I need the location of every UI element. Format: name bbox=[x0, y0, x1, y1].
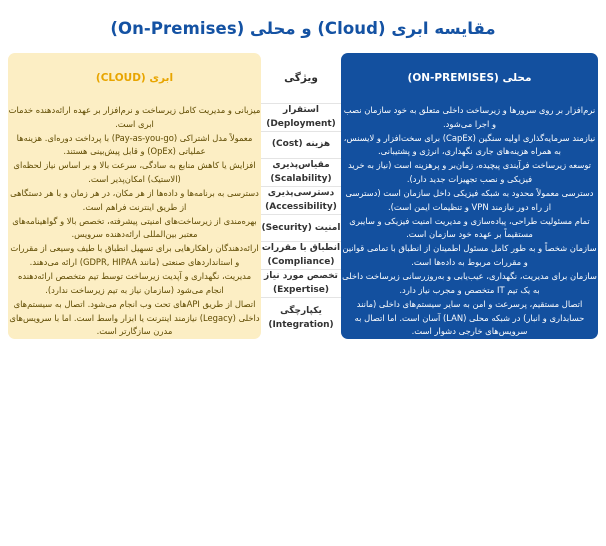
table-row: سازمان شخصاً و به طور کامل مسئول اطمینان… bbox=[8, 242, 598, 270]
cell-onpremises: دسترسی معمولاً محدود به شبکه فیزیکی داخل… bbox=[341, 187, 598, 215]
cell-cloud: ارائه‌دهندگان راهکارهایی برای تسهیل انطب… bbox=[8, 242, 261, 270]
feature-label-fa: یکپارچگی bbox=[280, 306, 322, 316]
column-header-cloud: ابری (CLOUD) bbox=[8, 53, 261, 104]
cell-feature: یکپارچگی (Integration) bbox=[261, 298, 341, 339]
cell-onpremises: توسعه زیرساخت فرآیندی پیچیده، زمان‌بر و … bbox=[341, 159, 598, 187]
cell-onpremises: نرم‌افزار بر روی سرورها و زیرساخت داخلی … bbox=[341, 104, 598, 132]
feature-label-fa: دسترسی‌پذیری bbox=[268, 188, 335, 198]
cell-feature: استقرار (Deployment) bbox=[261, 104, 341, 132]
cell-cloud: مدیریت، نگهداری و آپدیت زیرساخت توسط تیم… bbox=[8, 270, 261, 298]
comparison-table: محلی (ON-PREMISES) ویژگی ابری (CLOUD) نر… bbox=[8, 53, 598, 339]
feature-label-fa: انطباق با مقررات bbox=[262, 243, 340, 253]
feature-label-en: (Expertise) bbox=[273, 285, 329, 295]
comparison-infographic: مقایسه ابری (Cloud) و محلی (On-Premises)… bbox=[0, 11, 606, 546]
column-header-feature: ویژگی bbox=[261, 53, 341, 104]
table-row: نرم‌افزار بر روی سرورها و زیرساخت داخلی … bbox=[8, 104, 598, 132]
table-row: توسعه زیرساخت فرآیندی پیچیده، زمان‌بر و … bbox=[8, 159, 598, 187]
feature-label-en: (Scalability) bbox=[270, 174, 331, 184]
table-row: اتصال مستقیم، پرسرعت و امن به سایر سیستم… bbox=[8, 298, 598, 339]
cell-feature: انطباق با مقررات (Compliance) bbox=[261, 242, 341, 270]
cell-onpremises: اتصال مستقیم، پرسرعت و امن به سایر سیستم… bbox=[341, 298, 598, 339]
feature-label-en: (Integration) bbox=[268, 320, 333, 330]
page-title: مقایسه ابری (Cloud) و محلی (On-Premises) bbox=[0, 11, 606, 40]
table-row: نیازمند سرمایه‌گذاری اولیه سنگین (CapEx)… bbox=[8, 132, 598, 159]
table-header-row: محلی (ON-PREMISES) ویژگی ابری (CLOUD) bbox=[8, 53, 598, 104]
feature-label-fa: تخصص مورد نیاز bbox=[264, 271, 338, 281]
cell-cloud: میزبانی و مدیریت کامل زیرساخت و نرم‌افزا… bbox=[8, 104, 261, 132]
cell-feature: مقیاس‌پذیری (Scalability) bbox=[261, 159, 341, 187]
cell-onpremises: سازمان شخصاً و به طور کامل مسئول اطمینان… bbox=[341, 242, 598, 270]
cell-cloud: معمولاً مدل اشتراکی (Pay-as-you-go) با پ… bbox=[8, 132, 261, 159]
cell-cloud: دسترسی به برنامه‌ها و داده‌ها از هر مکان… bbox=[8, 187, 261, 215]
table-row: دسترسی معمولاً محدود به شبکه فیزیکی داخل… bbox=[8, 187, 598, 215]
feature-label-en: (Compliance) bbox=[268, 257, 335, 267]
feature-label-fa: استقرار bbox=[283, 105, 319, 115]
column-header-onpremises: محلی (ON-PREMISES) bbox=[341, 53, 598, 104]
cell-cloud: بهره‌مندی از زیرساخت‌های امنیتی پیشرفته،… bbox=[8, 215, 261, 242]
feature-label-fa: هزینه (Cost) bbox=[272, 139, 330, 149]
feature-label-en: (Deployment) bbox=[266, 119, 336, 129]
table-head: محلی (ON-PREMISES) ویژگی ابری (CLOUD) bbox=[8, 53, 598, 104]
cell-cloud: افزایش یا کاهش منابع به سادگی، سرعت بالا… bbox=[8, 159, 261, 187]
feature-label-fa: مقیاس‌پذیری bbox=[272, 160, 329, 170]
cell-onpremises: نیازمند سرمایه‌گذاری اولیه سنگین (CapEx)… bbox=[341, 132, 598, 159]
feature-label-en: (Accessibility) bbox=[265, 202, 337, 212]
cell-onpremises: تمام مسئولیت طراحی، پیاده‌سازی و مدیریت … bbox=[341, 215, 598, 242]
cell-cloud: اتصال از طریق API‌های تحت وب انجام می‌شو… bbox=[8, 298, 261, 339]
table-row: سازمان برای مدیریت، نگهداری، عیب‌یابی و … bbox=[8, 270, 598, 298]
cell-feature: تخصص مورد نیاز (Expertise) bbox=[261, 270, 341, 298]
cell-feature: هزینه (Cost) bbox=[261, 132, 341, 159]
cell-feature: دسترسی‌پذیری (Accessibility) bbox=[261, 187, 341, 215]
feature-label-fa: امنیت (Security) bbox=[262, 223, 341, 233]
cell-onpremises: سازمان برای مدیریت، نگهداری، عیب‌یابی و … bbox=[341, 270, 598, 298]
table-body: نرم‌افزار بر روی سرورها و زیرساخت داخلی … bbox=[8, 104, 598, 339]
cell-feature: امنیت (Security) bbox=[261, 215, 341, 242]
table-row: تمام مسئولیت طراحی، پیاده‌سازی و مدیریت … bbox=[8, 215, 598, 242]
